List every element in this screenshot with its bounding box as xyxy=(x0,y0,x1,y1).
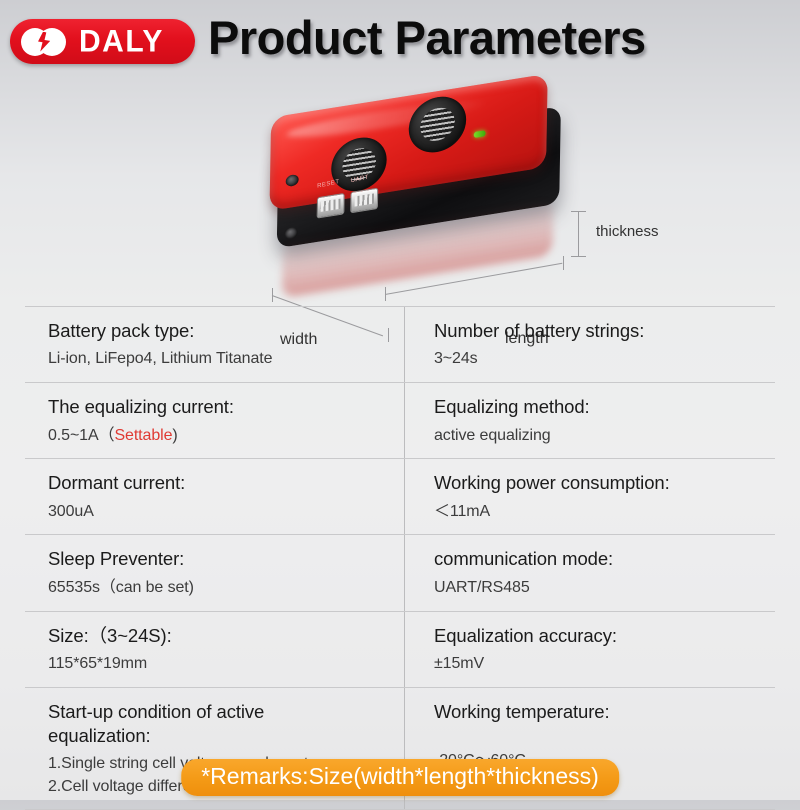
remarks-banner: *Remarks:Size(width*length*thickness) xyxy=(181,759,619,796)
spec-value-paren-open: （ xyxy=(99,427,115,444)
spec-key: Dormant current: xyxy=(48,471,404,495)
spec-cell: Equalization accuracy: ±15mV xyxy=(404,612,775,687)
table-row: Battery pack type: Li-ion, LiFepo4, Lith… xyxy=(25,307,775,383)
spec-key: communication mode: xyxy=(434,547,775,571)
thickness-dimension-cap-top xyxy=(571,211,586,212)
spec-value: ＜11mA xyxy=(434,501,775,524)
spec-cell: Working power consumption: ＜11mA xyxy=(404,459,775,534)
spec-value: 3~24s xyxy=(434,348,775,371)
spec-value: 65535s（can be set) xyxy=(48,577,404,600)
specifications-table: Battery pack type: Li-ion, LiFepo4, Lith… xyxy=(25,306,775,810)
spec-key: Size:（3~24S): xyxy=(48,624,404,648)
device-label-disc-right-icon xyxy=(408,93,466,157)
spec-value: 115*65*19mm xyxy=(48,653,404,676)
spec-cell: Equalizing method: active equalizing xyxy=(404,383,775,458)
spec-key-line1: Start-up condition of active xyxy=(48,700,404,724)
spec-cell: Battery pack type: Li-ion, LiFepo4, Lith… xyxy=(25,307,404,382)
spec-value-main: 0.5~1A xyxy=(48,427,99,444)
spec-value: 0.5~1A（Settable) xyxy=(48,425,404,448)
length-dimension-cap-right xyxy=(563,256,564,270)
table-row: Sleep Preventer: 65535s（can be set) comm… xyxy=(25,535,775,611)
spec-value: 300uA xyxy=(48,501,404,524)
connector-uart xyxy=(350,188,378,214)
spec-cell: communication mode: UART/RS485 xyxy=(404,535,775,610)
spec-key: The equalizing current: xyxy=(48,395,404,419)
spec-key: Battery pack type: xyxy=(48,319,404,343)
spec-cell: Dormant current: 300uA xyxy=(25,459,404,534)
spec-key: Equalizing method: xyxy=(434,395,775,419)
page-title: Product Parameters xyxy=(208,10,646,65)
spec-cell: Sleep Preventer: 65535s（can be set) xyxy=(25,535,404,610)
spec-key-line2: equalization: xyxy=(48,724,404,748)
spec-key: Working temperature: xyxy=(434,700,775,724)
bms-device-illustration: RESET UART xyxy=(268,68,557,276)
spec-key: Working power consumption: xyxy=(434,471,775,495)
table-row: The equalizing current: 0.5~1A（Settable)… xyxy=(25,383,775,459)
spec-value-paren-close: ) xyxy=(172,427,177,444)
length-dimension-cap-left xyxy=(385,287,386,301)
status-led-indicator xyxy=(474,130,486,138)
spec-value-highlight: Settable xyxy=(114,427,172,444)
label-thickness: thickness xyxy=(596,223,659,240)
mounting-screw-top xyxy=(286,174,299,187)
spec-cell: Size:（3~24S): 115*65*19mm xyxy=(25,612,404,687)
daly-logo-mark-icon xyxy=(21,26,73,58)
spec-value: UART/RS485 xyxy=(434,577,775,600)
spec-cell: The equalizing current: 0.5~1A（Settable) xyxy=(25,383,404,458)
spec-key: Equalization accuracy: xyxy=(434,624,775,648)
spec-value: Li-ion, LiFepo4, Lithium Titanate xyxy=(48,348,404,371)
spec-key: Number of battery strings: xyxy=(434,319,775,343)
table-row: Size:（3~24S): 115*65*19mm Equalization a… xyxy=(25,612,775,688)
spec-value: active equalizing xyxy=(434,425,775,448)
daly-logo: DALY xyxy=(10,19,195,64)
page-header: DALY Product Parameters xyxy=(0,0,800,88)
spec-cell: Number of battery strings: 3~24s xyxy=(404,307,775,382)
connector-reset xyxy=(317,193,345,219)
port-label-reset: RESET xyxy=(317,179,339,190)
logo-text: DALY xyxy=(79,26,164,58)
width-dimension-cap-left xyxy=(272,288,273,302)
spec-value: ±15mV xyxy=(434,653,775,676)
spec-key: Sleep Preventer: xyxy=(48,547,404,571)
thickness-dimension-line xyxy=(578,211,579,257)
device-label-disc-left-icon xyxy=(331,134,387,196)
product-image-area: RESET UART thickness length width xyxy=(0,84,800,294)
table-row: Dormant current: 300uA Working power con… xyxy=(25,459,775,535)
thickness-dimension-cap-bottom xyxy=(571,256,586,257)
